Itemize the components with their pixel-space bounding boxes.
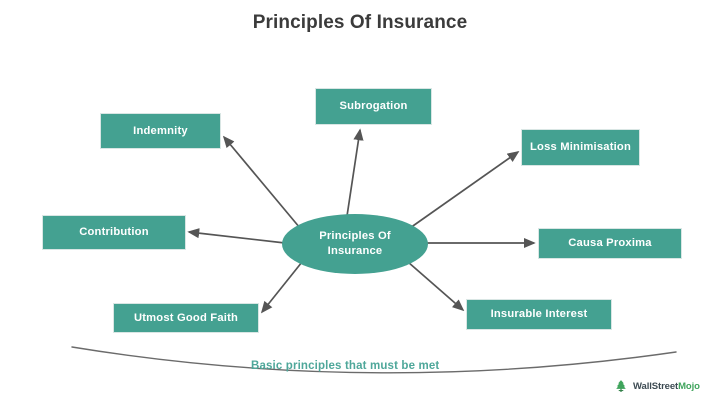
diagram-canvas: Principles Of Insurance Principles Of In… [0, 0, 720, 404]
node-indemnity-label: Indemnity [133, 125, 188, 138]
node-contribution-label: Contribution [79, 226, 149, 239]
brand-wordmark: WallStreetMojo [633, 381, 700, 392]
node-causa-proxima[interactable]: Causa Proxima [538, 228, 682, 259]
arrow-to-subrogation [347, 130, 360, 216]
diagram-caption: Basic principles that must be met [251, 360, 439, 372]
tree-icon [613, 378, 629, 394]
node-utmost-good-faith-label: Utmost Good Faith [134, 312, 238, 325]
brand-logo[interactable]: WallStreetMojo [613, 378, 700, 394]
arrow-to-utmost-good-faith [262, 262, 302, 312]
node-indemnity[interactable]: Indemnity [100, 113, 221, 149]
arrow-to-loss-minimisation [410, 152, 518, 228]
center-node-principles-of-insurance[interactable]: Principles Of Insurance [282, 214, 428, 274]
brand-wordmark-part2: Mojo [678, 381, 700, 392]
center-node-line-1: Principles Of [319, 229, 391, 244]
node-contribution[interactable]: Contribution [42, 215, 186, 250]
node-causa-proxima-label: Causa Proxima [568, 237, 651, 250]
node-loss-minimisation-label: Loss Minimisation [530, 141, 631, 154]
center-node-line-2: Insurance [328, 244, 383, 259]
arrow-to-insurable-interest [408, 262, 463, 310]
arrow-to-indemnity [224, 137, 300, 228]
node-loss-minimisation[interactable]: Loss Minimisation [521, 129, 640, 166]
node-utmost-good-faith[interactable]: Utmost Good Faith [113, 303, 259, 333]
connector-layer [0, 0, 720, 404]
brand-wordmark-part1: WallStreet [633, 381, 678, 392]
arrow-to-contribution [189, 232, 285, 243]
node-subrogation-label: Subrogation [339, 100, 407, 113]
node-subrogation[interactable]: Subrogation [315, 88, 432, 125]
node-insurable-interest[interactable]: Insurable Interest [466, 299, 612, 330]
node-insurable-interest-label: Insurable Interest [491, 308, 588, 321]
